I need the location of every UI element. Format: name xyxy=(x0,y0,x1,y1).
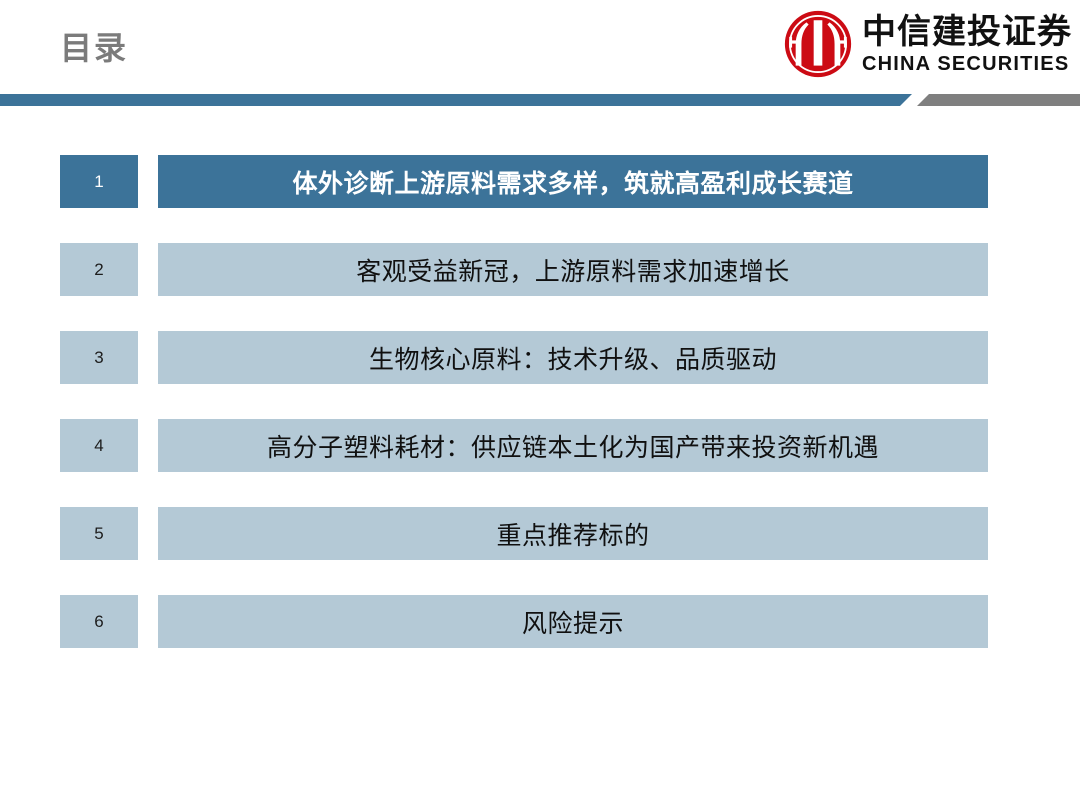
logo-brand-en: CHINA SECURITIES xyxy=(862,54,1072,74)
divider-blue-bar xyxy=(0,94,912,106)
header-divider xyxy=(0,94,1080,108)
toc-item-label: 高分子塑料耗材：供应链本土化为国产带来投资新机遇 xyxy=(158,419,988,472)
toc-item-label: 生物核心原料：技术升级、品质驱动 xyxy=(158,331,988,384)
toc-item-5[interactable]: 5 重点推荐标的 xyxy=(60,507,988,560)
toc-item-2[interactable]: 2 客观受益新冠，上游原料需求加速增长 xyxy=(60,243,988,296)
citic-emblem-icon xyxy=(782,8,854,80)
toc-item-number: 5 xyxy=(60,507,138,560)
table-of-contents: 1 体外诊断上游原料需求多样，筑就高盈利成长赛道 2 客观受益新冠，上游原料需求… xyxy=(60,155,988,648)
slide-header: 目录 中信建投证券 CHINA SECURITIES xyxy=(0,0,1080,96)
toc-item-label: 客观受益新冠，上游原料需求加速增长 xyxy=(158,243,988,296)
toc-item-4[interactable]: 4 高分子塑料耗材：供应链本土化为国产带来投资新机遇 xyxy=(60,419,988,472)
toc-item-number: 6 xyxy=(60,595,138,648)
toc-item-label: 风险提示 xyxy=(158,595,988,648)
logo-wordmark: 中信建投证券 CHINA SECURITIES xyxy=(862,15,1072,74)
toc-item-label: 重点推荐标的 xyxy=(158,507,988,560)
toc-item-1[interactable]: 1 体外诊断上游原料需求多样，筑就高盈利成长赛道 xyxy=(60,155,988,208)
toc-item-number: 2 xyxy=(60,243,138,296)
toc-item-number: 1 xyxy=(60,155,138,208)
company-logo: 中信建投证券 CHINA SECURITIES xyxy=(782,8,1072,80)
toc-item-6[interactable]: 6 风险提示 xyxy=(60,595,988,648)
toc-item-number: 3 xyxy=(60,331,138,384)
page-title: 目录 xyxy=(60,28,128,68)
toc-item-number: 4 xyxy=(60,419,138,472)
divider-gray-bar xyxy=(917,94,1080,106)
logo-brand-cn: 中信建投证券 xyxy=(862,15,1072,49)
toc-item-3[interactable]: 3 生物核心原料：技术升级、品质驱动 xyxy=(60,331,988,384)
toc-item-label: 体外诊断上游原料需求多样，筑就高盈利成长赛道 xyxy=(158,155,988,208)
